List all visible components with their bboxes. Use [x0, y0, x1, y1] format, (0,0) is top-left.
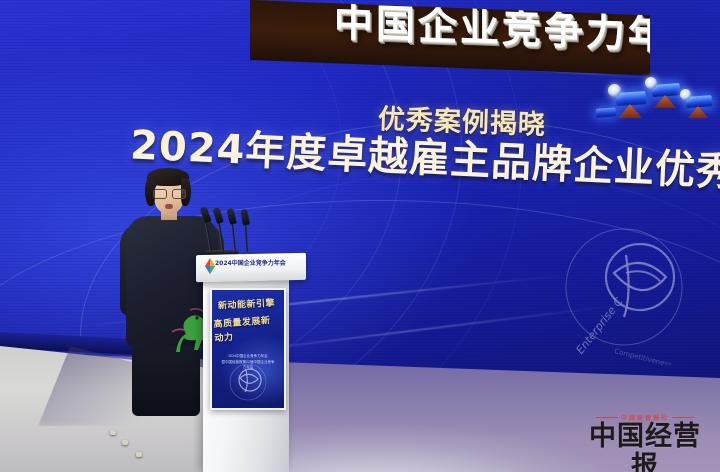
watermark-dash-right [672, 417, 694, 418]
svg-text:Competitiveness: Competitiveness [614, 347, 673, 365]
floor-cable-clip [122, 440, 128, 445]
publisher-watermark: 中国经营报社 中国经营报 CHINA BUSINESS JOURNAL [576, 412, 714, 468]
podium-sign-text: 2024中国企业竞争力年会 [215, 258, 286, 267]
watermark-chinese-name: 中国经营报 [576, 422, 714, 472]
floor-cable-clip [136, 452, 142, 457]
podium-emblem-icon [224, 362, 272, 402]
eyeglasses-icon [153, 189, 185, 198]
floor-cable-clip [110, 430, 116, 435]
podium-subtitle-line-1: 2024中国企业竞争力年会 [220, 354, 276, 359]
podium-calligraphy-line-1: 新动能新引擎 [218, 296, 279, 313]
photo-scene: Enterprise C Competitiveness 中国企业竞争力年会 优… [0, 0, 720, 472]
podium-calligraphy-line-2: 高质量发展新动力 [213, 314, 275, 346]
screen-emblem-watermark-icon: Enterprise C Competitiveness [552, 215, 702, 365]
watermark-dash-left [596, 417, 618, 418]
speaker-mouth [165, 204, 173, 209]
podium-front-panel: 新动能新引擎 高质量发展新动力 2024中国企业竞争力年会 暨中国经营报第22届… [210, 288, 286, 410]
